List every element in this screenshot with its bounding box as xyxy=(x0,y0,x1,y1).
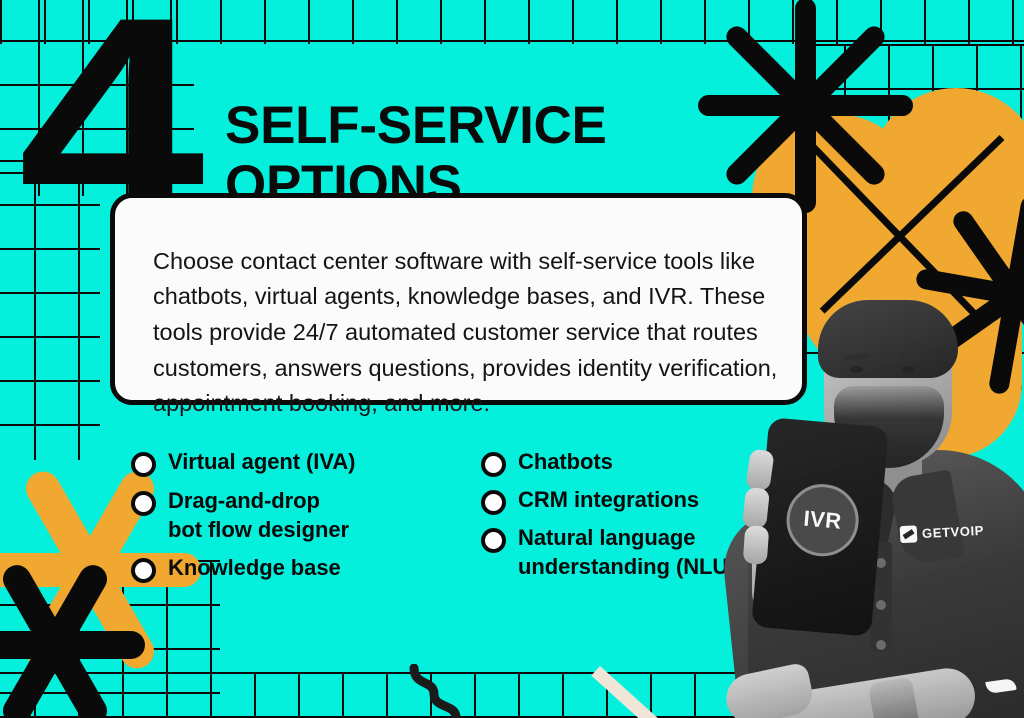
bullet-circle-icon xyxy=(481,452,506,477)
bullet-circle-icon xyxy=(131,491,156,516)
shirt-brand-label: GETVOIP xyxy=(922,523,985,541)
shirt-button xyxy=(876,558,886,568)
bullet-circle-icon xyxy=(131,452,156,477)
finger xyxy=(743,525,770,565)
ray xyxy=(0,631,69,659)
bullet-circle-icon xyxy=(131,558,156,583)
list-item[interactable]: Drag-and-drop bot flow designer xyxy=(131,487,411,544)
shirt-button xyxy=(876,600,886,610)
list-item-label: Virtual agent (IVA) xyxy=(168,448,355,477)
eye-left xyxy=(850,366,863,373)
ray xyxy=(20,465,113,593)
ray xyxy=(20,547,113,675)
presenter-photo: GETVOIP IVR xyxy=(700,282,1024,718)
getvoip-mark-icon xyxy=(900,525,918,543)
finger xyxy=(742,487,770,529)
list-item-label: Chatbots xyxy=(518,448,613,477)
list-item[interactable]: Virtual agent (IVA) xyxy=(131,448,411,477)
ray xyxy=(41,631,145,659)
list-item-label: Drag-and-drop bot flow designer xyxy=(168,487,349,544)
list-item-label: CRM integrations xyxy=(518,486,699,515)
ray xyxy=(0,560,74,664)
ray xyxy=(0,626,74,718)
list-item[interactable]: Knowledge base xyxy=(131,554,411,583)
phone-screen-badge: IVR xyxy=(784,481,862,559)
cream-diagonal-bar xyxy=(591,666,696,718)
background-grid-bottom-left xyxy=(0,560,220,718)
bullet-circle-icon xyxy=(481,528,506,553)
description-text: Choose contact center software with self… xyxy=(153,244,778,423)
feature-column-left: Virtual agent (IVA) Drag-and-drop bot fl… xyxy=(131,448,411,583)
hair xyxy=(818,300,958,378)
infographic-slide: 4 SELF-SERVICE OPTIONS Choose contact ce… xyxy=(0,0,1024,718)
ray xyxy=(0,553,107,587)
ray xyxy=(36,560,112,664)
eye-right xyxy=(902,366,915,373)
shirt-button xyxy=(876,640,886,650)
cable-squiggle-icon xyxy=(404,664,484,718)
smartphone: IVR xyxy=(751,417,889,637)
ray xyxy=(36,626,112,718)
bullet-circle-icon xyxy=(481,490,506,515)
list-item-label: Knowledge base xyxy=(168,554,341,583)
feature-list: Virtual agent (IVA) Drag-and-drop bot fl… xyxy=(131,448,771,583)
